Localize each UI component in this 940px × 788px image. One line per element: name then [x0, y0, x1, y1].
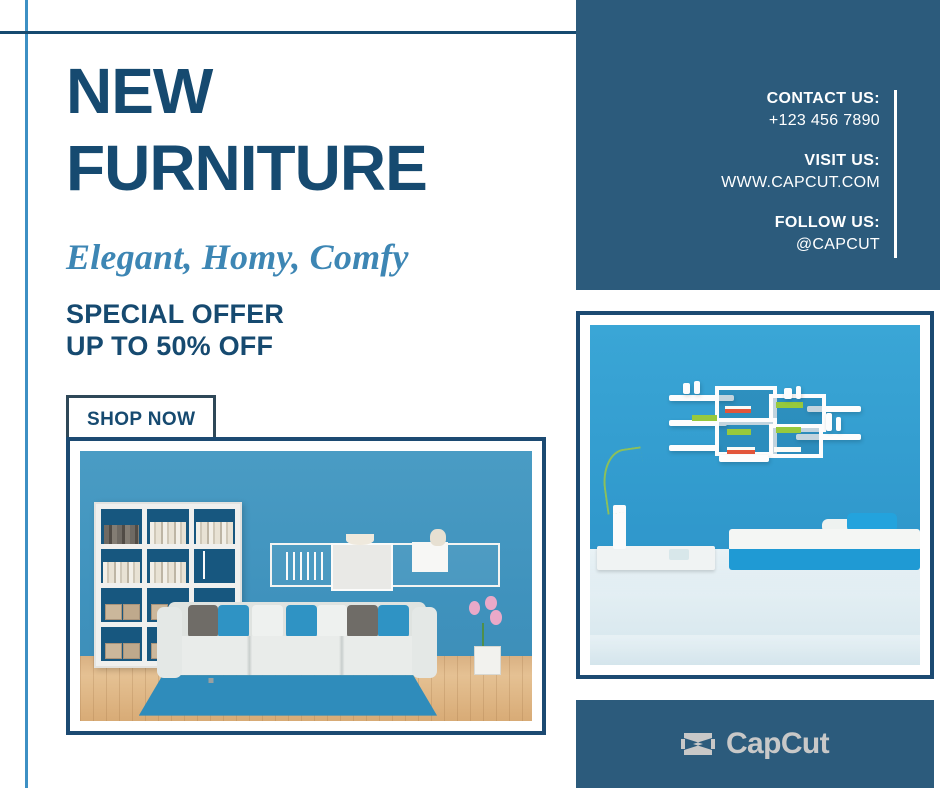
contact-social-block: FOLLOW US: @CAPCUT [721, 212, 880, 255]
poster-canvas: NEW FURNITURE Elegant, Homy, Comfy SPECI… [0, 0, 940, 788]
secondary-photo-frame[interactable] [576, 311, 934, 679]
headline-line-2: FURNITURE [66, 137, 546, 200]
bedroom-scene [590, 325, 920, 665]
contact-details: CONTACT US: +123 456 7890 VISIT US: WWW.… [721, 88, 880, 256]
contact-website-label: VISIT US: [721, 150, 880, 172]
capcut-bowtie-icon [681, 730, 715, 758]
subtitle: Elegant, Homy, Comfy [66, 236, 409, 278]
contact-website-block: VISIT US: WWW.CAPCUT.COM [721, 150, 880, 193]
brand-logo-panel: CapCut [576, 700, 934, 788]
table-object [669, 549, 689, 559]
living-room-scene [80, 451, 532, 721]
contact-phone-block: CONTACT US: +123 456 7890 [721, 88, 880, 131]
contact-social-label: FOLLOW US: [721, 212, 880, 234]
special-offer-text: SPECIAL OFFER UP TO 50% OFF [66, 299, 284, 363]
contact-phone-value[interactable]: +123 456 7890 [721, 110, 880, 132]
offer-line-1: SPECIAL OFFER [66, 299, 284, 331]
secondary-photo [590, 325, 920, 665]
orchid-plant [464, 594, 509, 675]
daybed [729, 519, 920, 573]
page-title: NEW FURNITURE [66, 60, 546, 199]
contact-social-value[interactable]: @CAPCUT [721, 234, 880, 256]
contact-phone-label: CONTACT US: [721, 88, 880, 110]
low-table [597, 546, 716, 570]
contact-website-value[interactable]: WWW.CAPCUT.COM [721, 172, 880, 194]
headline-line-1: NEW [66, 55, 212, 127]
main-photo [80, 451, 532, 721]
offer-line-2: UP TO 50% OFF [66, 331, 284, 363]
sofa [157, 602, 437, 683]
contact-panel: CONTACT US: +123 456 7890 VISIT US: WWW.… [576, 0, 940, 290]
brand-name: CapCut [726, 727, 829, 761]
main-photo-frame[interactable] [66, 437, 546, 735]
contact-divider-rule [894, 90, 897, 258]
wall-shelf [270, 543, 500, 588]
wall-shelf-unit [669, 379, 860, 467]
